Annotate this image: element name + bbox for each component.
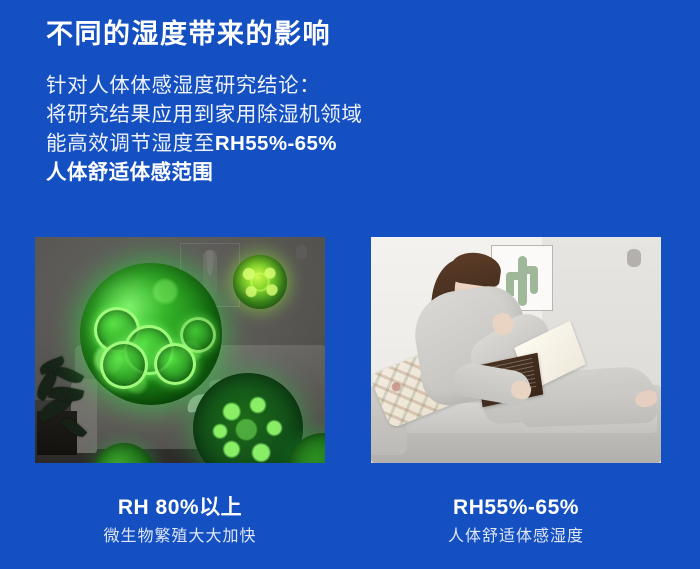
wall-speaker-icon	[627, 249, 641, 267]
photo-high-humidity	[35, 237, 325, 463]
humidity-infographic-poster: 不同的湿度带来的影响 针对人体体感湿度研究结论： 将研究结果应用到家用除湿机领域…	[0, 0, 700, 569]
caption-title-comfort-humidity: RH55%-65%	[371, 495, 661, 521]
body-line-3: 能高效调节湿度至RH55%-65%	[46, 129, 666, 158]
microbe-cell	[100, 341, 148, 389]
body-copy: 针对人体体感湿度研究结论： 将研究结果应用到家用除湿机领域 能高效调节湿度至RH…	[46, 71, 666, 187]
microbe-small-icon	[233, 255, 287, 309]
page-title: 不同的湿度带来的影响	[46, 14, 666, 54]
photo-high-humidity-scene	[35, 237, 325, 463]
photo-comfort-humidity-scene	[371, 237, 661, 463]
caption-high-humidity: RH 80%以上 微生物繁殖大大加快	[35, 495, 325, 548]
cactus-icon	[522, 266, 536, 274]
body-line-4: 人体舒适体感范围	[46, 158, 666, 187]
caption-sub-high-humidity: 微生物繁殖大大加快	[35, 526, 325, 548]
caption-title-high-humidity: RH 80%以上	[35, 495, 325, 521]
header-block: 不同的湿度带来的影响 针对人体体感湿度研究结论： 将研究结果应用到家用除湿机领域…	[46, 14, 666, 187]
cactus-icon	[506, 272, 524, 280]
body-line-3-highlight: RH55%-65%	[215, 132, 337, 155]
photo-comfort-humidity	[371, 237, 661, 463]
body-line-2: 将研究结果应用到家用除湿机领域	[46, 100, 666, 129]
body-line-3-regular: 能高效调节湿度至	[46, 132, 215, 155]
cactus-icon	[518, 256, 527, 306]
microbe-large-icon	[80, 263, 222, 405]
body-line-1: 针对人体体感湿度研究结论：	[46, 71, 666, 100]
light-room-background	[371, 237, 661, 463]
caption-comfort-humidity: RH55%-65% 人体舒适体感湿度	[371, 495, 661, 548]
microbe-cell	[180, 317, 216, 353]
caption-sub-comfort-humidity: 人体舒适体感湿度	[371, 526, 661, 548]
